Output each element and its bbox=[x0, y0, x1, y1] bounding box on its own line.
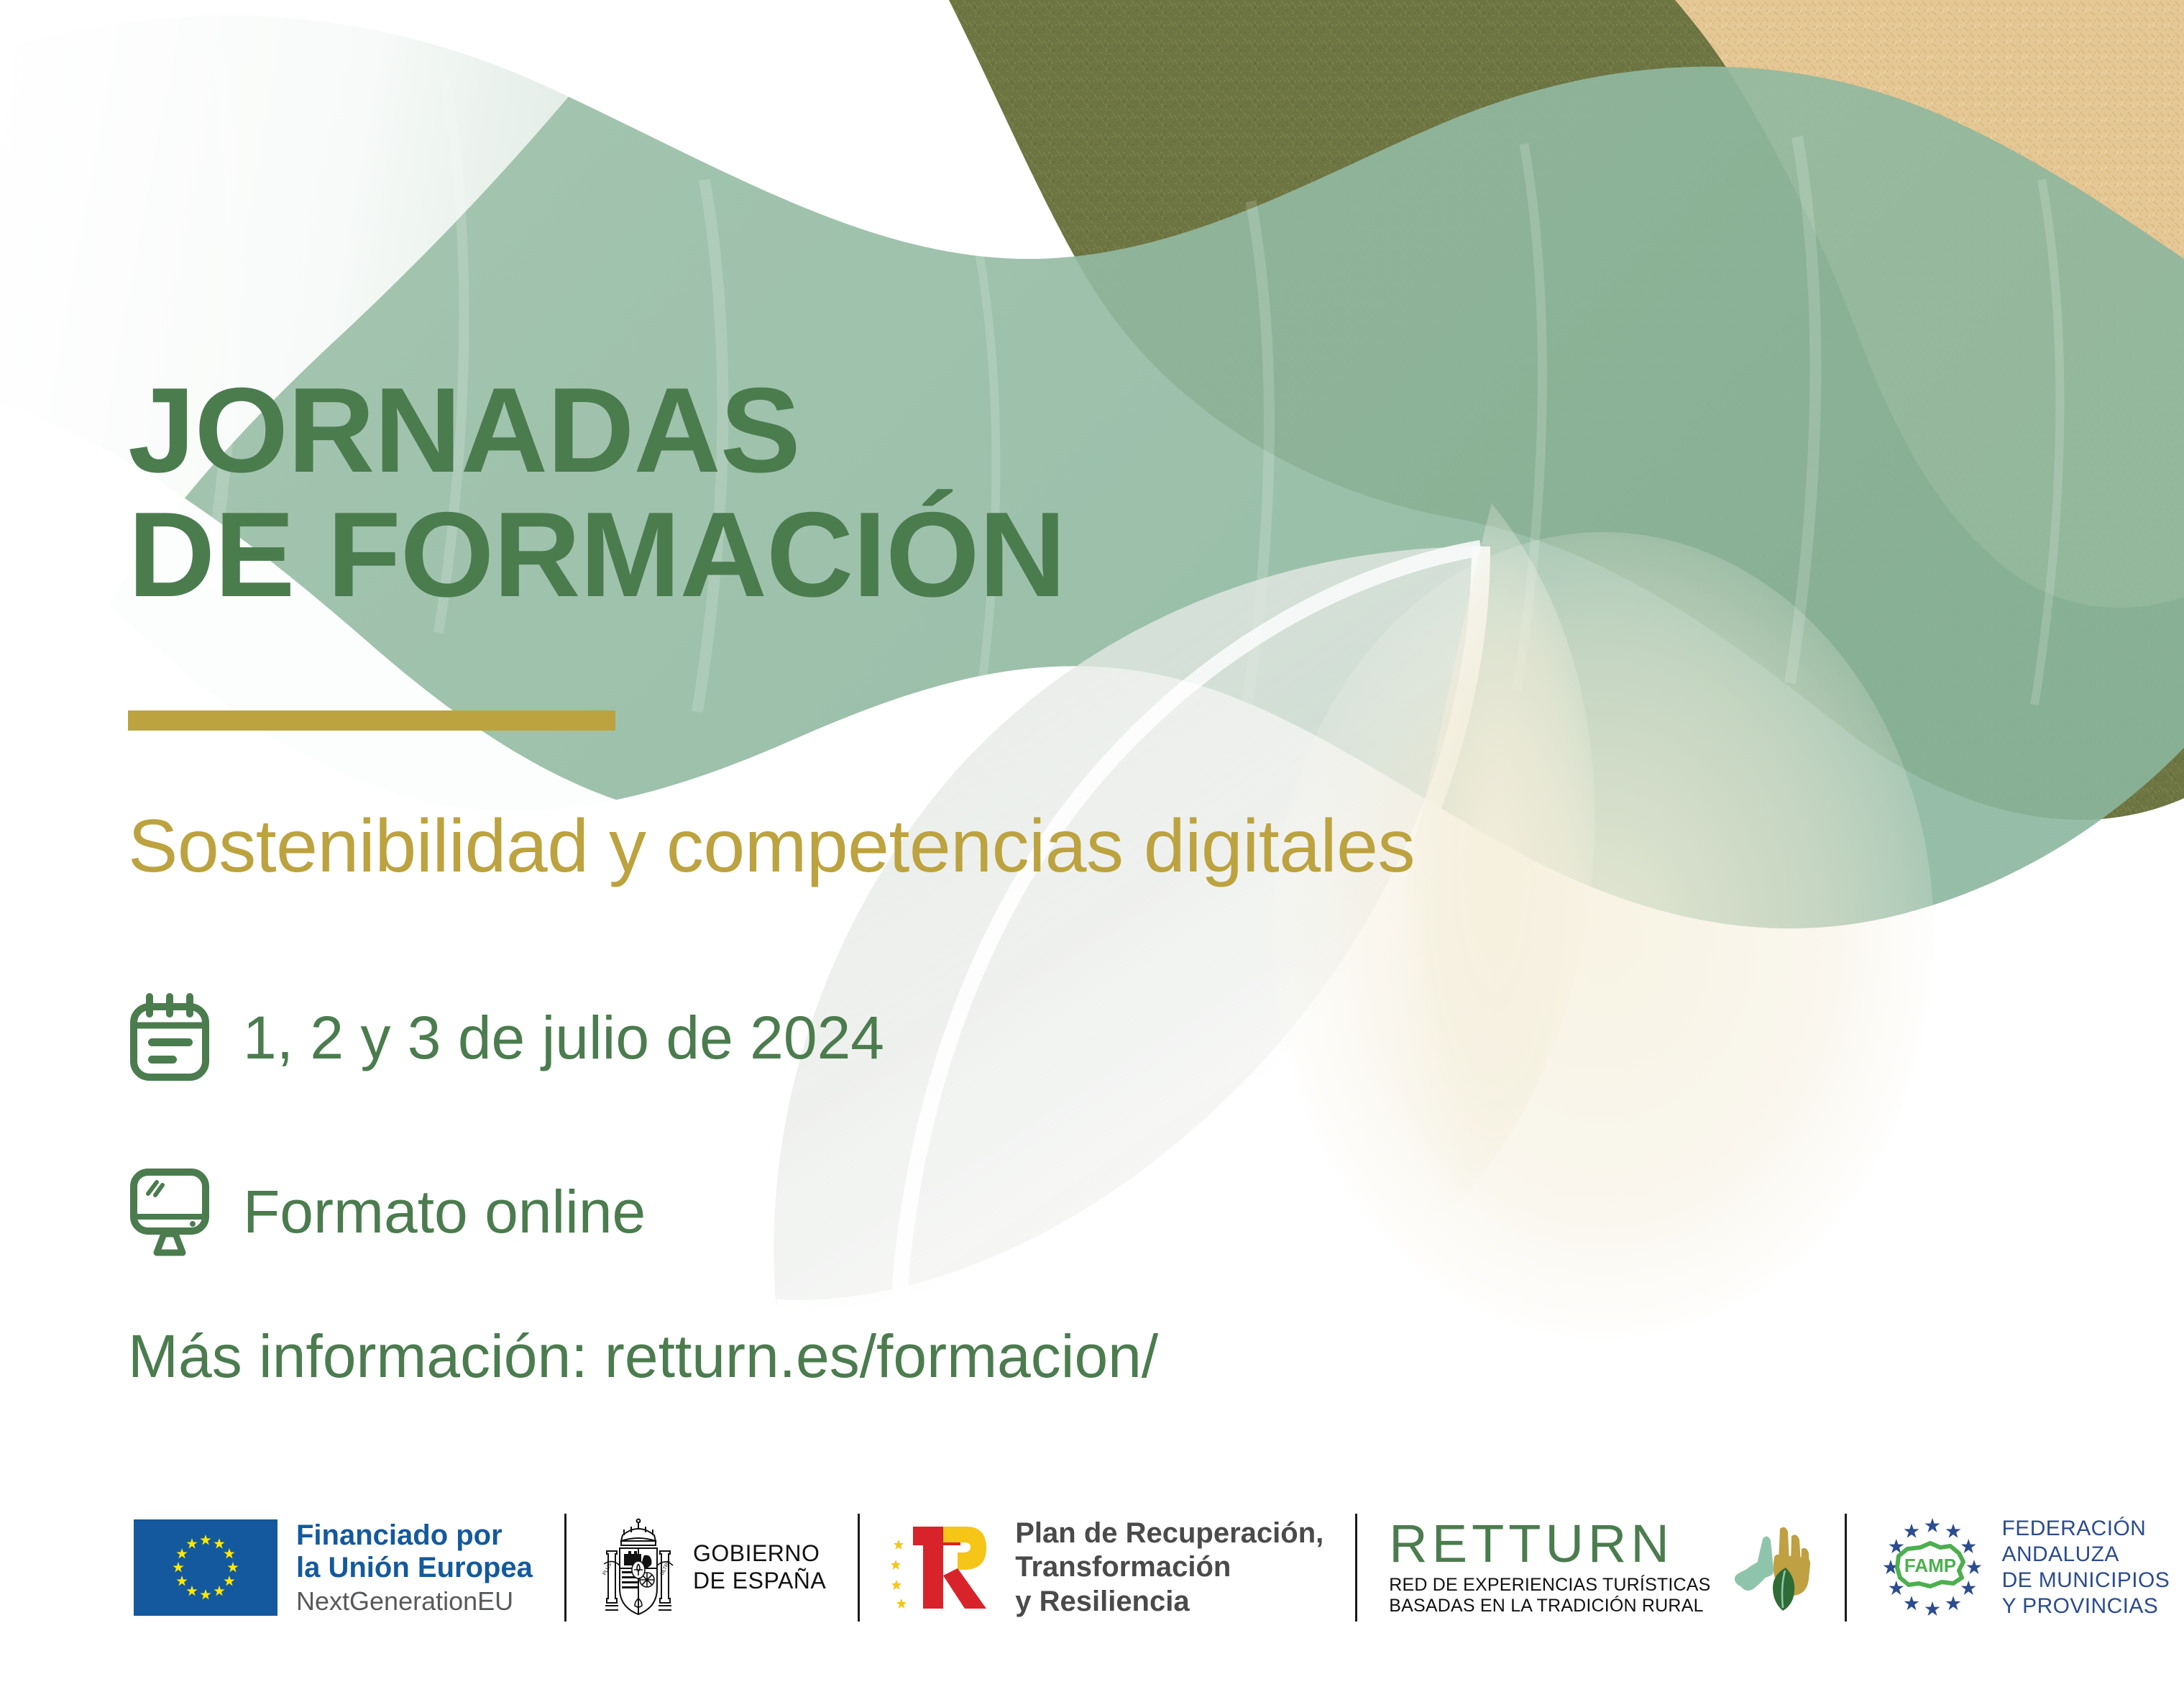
famp-logo-line-4: Y PROVINCIAS bbox=[2002, 1593, 2170, 1619]
famp-stars-andalusia-icon: FAMP bbox=[1878, 1516, 1986, 1619]
detail-text-format: Formato online bbox=[243, 1181, 646, 1242]
retturn-tagline-2: BASADAS EN LA TRADICIÓN RURAL bbox=[1389, 1596, 1710, 1616]
gob-logo-line-1: GOBIERNO bbox=[693, 1540, 826, 1568]
spain-coat-of-arms-icon: PLUS ULTRA bbox=[598, 1514, 679, 1622]
gob-logo-line-2: DE ESPAÑA bbox=[693, 1568, 826, 1595]
retturn-wordmark: RETTURN bbox=[1389, 1519, 1710, 1569]
logo-divider-2 bbox=[858, 1514, 860, 1622]
hands-leaf-icon bbox=[1730, 1517, 1813, 1618]
svg-text:PLUS: PLUS bbox=[602, 1562, 613, 1576]
eu-flag-icon bbox=[134, 1519, 277, 1616]
retturn-logo: RETTURN RED DE EXPERIENCIAS TURÍSTICAS B… bbox=[1389, 1510, 1812, 1625]
eu-funding-logo: Financiado por la Unión Europea NextGene… bbox=[134, 1510, 533, 1625]
detail-row-date: 1, 2 y 3 de julio de 2024 bbox=[128, 991, 884, 1084]
retturn-tagline-1: RED DE EXPERIENCIAS TURÍSTICAS bbox=[1389, 1575, 1710, 1596]
prtr-logo-line-3: y Resiliencia bbox=[1015, 1585, 1323, 1619]
eu-logo-line-1: Financiado por bbox=[296, 1519, 533, 1552]
page-title: JORNADAS DE FORMACIÓN bbox=[128, 368, 1065, 617]
poster-subtitle: Sostenibilidad y competencias digitales bbox=[128, 804, 1415, 890]
prtr-logo-line-1: Plan de Recuperación, bbox=[1015, 1517, 1323, 1550]
plan-recuperacion-logo: Plan de Recuperación, Transformación y R… bbox=[891, 1510, 1323, 1625]
gold-accent-rule bbox=[128, 710, 615, 731]
detail-row-format: Formato online bbox=[128, 1165, 646, 1258]
sponsor-logo-bar: Financiado por la Unión Europea NextGene… bbox=[0, 1496, 2184, 1640]
famp-acronym-text: FAMP bbox=[1904, 1555, 1955, 1576]
poster-content: JORNADAS DE FORMACIÓN Sostenibilidad y c… bbox=[0, 0, 2184, 1692]
famp-logo-line-2: ANDALUZA bbox=[2002, 1542, 2170, 1568]
poster-canvas: JORNADAS DE FORMACIÓN Sostenibilidad y c… bbox=[0, 0, 2184, 1692]
famp-logo: FAMP FEDERACIÓN ANDALUZA DE MUNICIPIOS Y… bbox=[1878, 1510, 2170, 1625]
logo-divider-4 bbox=[1845, 1514, 1847, 1622]
title-line-2: DE FORMACIÓN bbox=[128, 493, 1065, 617]
detail-text-date: 1, 2 y 3 de julio de 2024 bbox=[243, 1007, 884, 1068]
title-line-1: JORNADAS bbox=[128, 368, 1065, 493]
famp-logo-line-1: FEDERACIÓN bbox=[2002, 1516, 2170, 1542]
calendar-icon bbox=[128, 991, 211, 1084]
more-info-link[interactable]: Más información: retturn.es/formacion/ bbox=[128, 1322, 1158, 1391]
gobierno-espana-logo: PLUS ULTRA GOBIERNO DE ESPAÑA bbox=[598, 1510, 826, 1625]
monitor-icon bbox=[128, 1165, 211, 1258]
logo-divider-1 bbox=[564, 1514, 566, 1622]
logo-divider-3 bbox=[1355, 1514, 1357, 1622]
prtr-flag-icon bbox=[891, 1514, 999, 1622]
eu-logo-line-2: la Unión Europea bbox=[296, 1552, 533, 1584]
famp-logo-line-3: DE MUNICIPIOS bbox=[2002, 1568, 2170, 1593]
prtr-logo-line-2: Transformación bbox=[1015, 1550, 1323, 1584]
eu-logo-line-3: NextGenerationEU bbox=[296, 1587, 533, 1616]
